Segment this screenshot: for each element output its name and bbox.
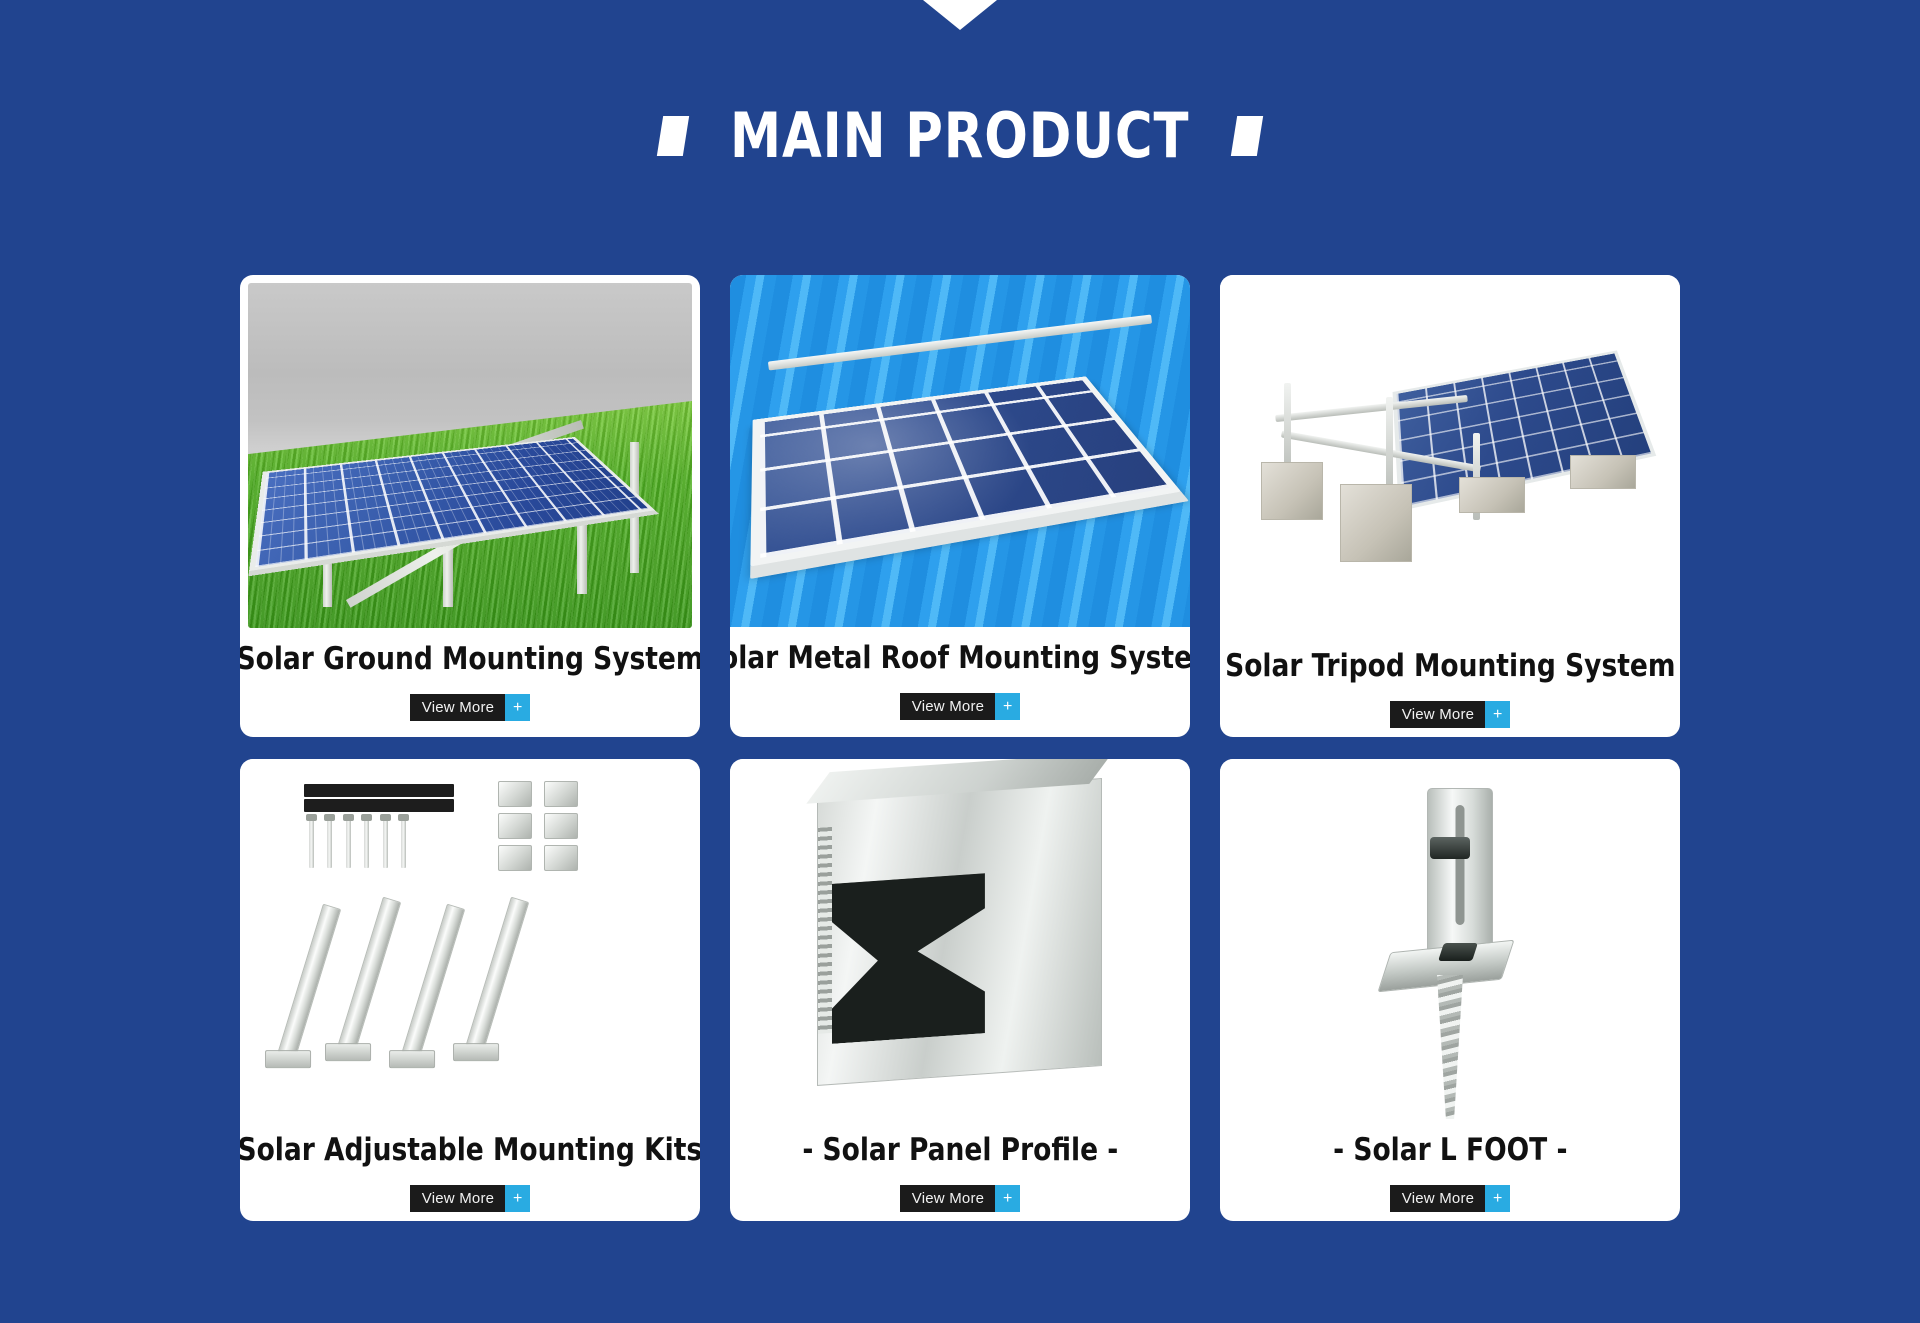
product-image-adjustable-kits (240, 759, 700, 1119)
view-more-label: View More (1390, 701, 1485, 728)
plus-icon: + (1485, 1185, 1510, 1212)
view-more-label: View More (900, 1185, 995, 1212)
view-more-label: View More (1390, 1185, 1485, 1212)
heading-right-mark-icon (1231, 116, 1263, 156)
product-title: - Solar Metal Roof Mounting System - (730, 641, 1190, 677)
page-title: MAIN PRODUCT (730, 105, 1189, 167)
product-grid: - Solar Ground Mounting System - View Mo… (240, 275, 1680, 1221)
product-image-tripod (1220, 275, 1680, 635)
view-more-label: View More (900, 693, 995, 720)
plus-icon: + (505, 1185, 530, 1212)
product-title: - Solar Panel Profile - (802, 1133, 1118, 1169)
plus-icon: + (995, 1185, 1020, 1212)
plus-icon: + (1485, 701, 1510, 728)
product-card-adjustable-kits[interactable]: - Solar Adjustable Mounting Kits - View … (240, 759, 700, 1221)
product-card-l-foot[interactable]: - Solar L FOOT - View More + (1220, 759, 1680, 1221)
view-more-button[interactable]: View More + (900, 693, 1020, 720)
product-title: - Solar L FOOT - (1333, 1133, 1567, 1169)
view-more-button[interactable]: View More + (1390, 1185, 1510, 1212)
plus-icon: + (995, 693, 1020, 720)
section-header: MAIN PRODUCT (0, 105, 1920, 167)
product-image-panel-profile (730, 759, 1190, 1119)
product-card-panel-profile[interactable]: - Solar Panel Profile - View More + (730, 759, 1190, 1221)
triangle-down-icon (923, 0, 997, 30)
heading-left-mark-icon (657, 116, 689, 156)
product-image-ground-mounting (248, 283, 692, 628)
product-image-l-foot (1220, 759, 1680, 1119)
view-more-button[interactable]: View More + (410, 1185, 530, 1212)
product-title: - Solar Ground Mounting System - (240, 642, 700, 678)
product-title: - Solar Tripod Mounting System - (1220, 649, 1680, 685)
view-more-label: View More (410, 1185, 505, 1212)
view-more-label: View More (410, 694, 505, 721)
product-image-metal-roof (730, 275, 1190, 627)
product-card-metal-roof[interactable]: - Solar Metal Roof Mounting System - Vie… (730, 275, 1190, 737)
view-more-button[interactable]: View More + (900, 1185, 1020, 1212)
product-card-ground-mounting[interactable]: - Solar Ground Mounting System - View Mo… (240, 275, 700, 737)
view-more-button[interactable]: View More + (1390, 701, 1510, 728)
product-title: - Solar Adjustable Mounting Kits - (240, 1133, 700, 1169)
view-more-button[interactable]: View More + (410, 694, 530, 721)
plus-icon: + (505, 694, 530, 721)
product-card-tripod[interactable]: - Solar Tripod Mounting System - View Mo… (1220, 275, 1680, 737)
